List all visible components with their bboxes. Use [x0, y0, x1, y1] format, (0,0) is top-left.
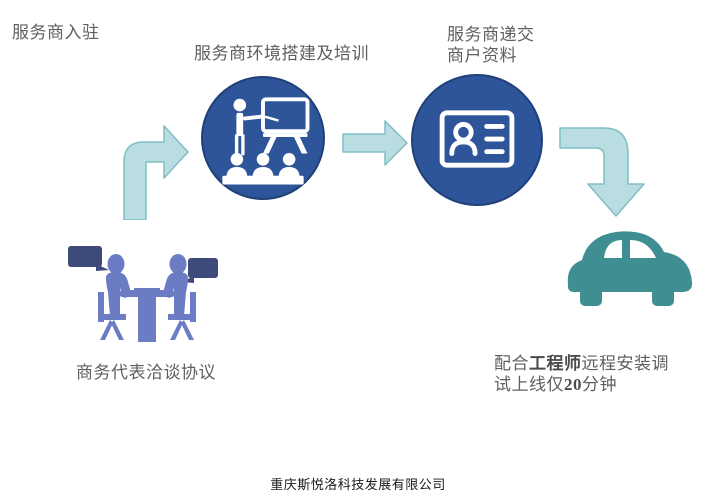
label-submit: 服务商递交 商户资料 [447, 24, 535, 66]
bent-arrow-right-down-icon [558, 122, 646, 220]
circle-submit-step [411, 74, 543, 206]
label-onboarding: 服务商入驻 [12, 22, 100, 43]
training-presentation-icon [203, 78, 323, 198]
label-install-emphasis-minutes: 20 [564, 375, 582, 394]
label-training: 服务商环境搭建及培训 [194, 43, 369, 64]
label-install-part-3: 试上线仅 [494, 375, 564, 394]
bent-arrow-up-right-icon [112, 122, 190, 220]
label-negotiation: 商务代表洽谈协议 [76, 362, 216, 383]
label-install-part-2: 远程安装调 [582, 354, 670, 373]
label-install: 配合工程师远程安装调试上线仅20分钟 [494, 353, 684, 395]
label-install-part-1: 配合 [494, 354, 529, 373]
circle-training-step [201, 76, 325, 200]
label-install-part-4: 分钟 [582, 375, 617, 394]
diagram-canvas: 服务商入驻 服务商环境搭建及培训 服务商递交 商户资料 商务代表洽谈协议 配合工… [0, 0, 716, 502]
footer-company-name: 重庆斯悦洛科技发展有限公司 [0, 474, 716, 493]
id-card-icon [413, 76, 541, 204]
arrow-right-icon [341, 118, 409, 168]
business-meeting-icon [62, 244, 232, 354]
car-icon [560, 222, 696, 314]
label-install-emphasis-engineer: 工程师 [529, 354, 582, 373]
